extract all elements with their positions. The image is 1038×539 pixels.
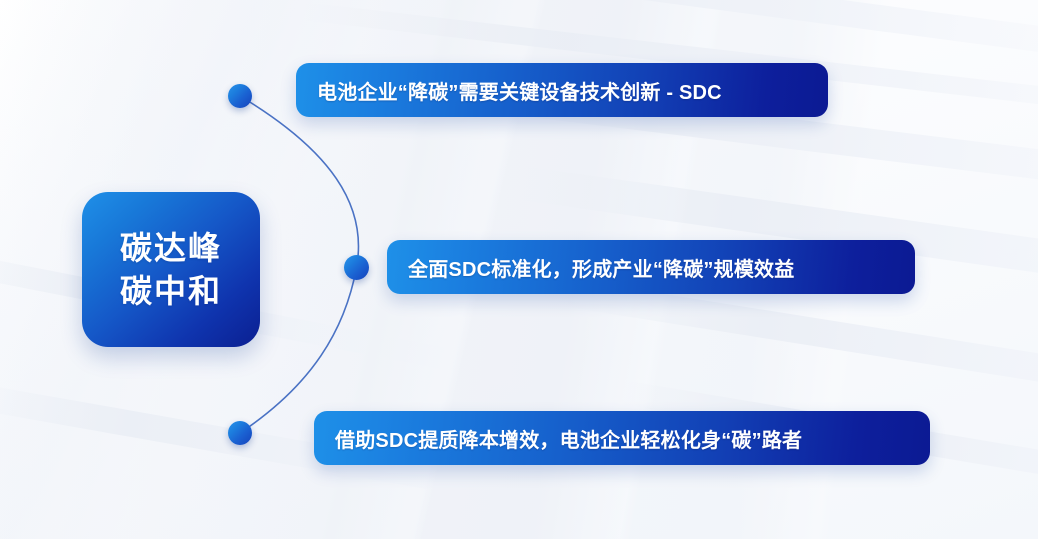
point-item-3-label: 借助SDC提质降本增效，电池企业轻松化身“碳”路者 [335, 424, 802, 453]
connector-dot-3 [228, 421, 252, 445]
point-item-3[interactable]: 借助SDC提质降本增效，电池企业轻松化身“碳”路者 [314, 411, 930, 465]
point-item-1-label: 电池企业“降碳”需要关键设备技术创新 - SDC [317, 76, 722, 105]
point-item-1[interactable]: 电池企业“降碳”需要关键设备技术创新 - SDC [296, 63, 828, 117]
main-topic-line-1: 碳达峰 [120, 227, 222, 269]
connector-dot-2 [344, 255, 369, 280]
main-topic-line-2: 碳中和 [120, 270, 222, 312]
background-streak [562, 279, 1038, 410]
point-item-2[interactable]: 全面SDC标准化，形成产业“降碳”规模效益 [387, 240, 915, 294]
main-topic-card: 碳达峰 碳中和 [82, 192, 260, 347]
background-streak [242, 0, 1038, 65]
infographic-slide: 碳达峰 碳中和 电池企业“降碳”需要关键设备技术创新 - SDC 全面SDC标准… [0, 0, 1038, 539]
point-item-2-label: 全面SDC标准化，形成产业“降碳”规模效益 [408, 253, 794, 282]
connector-dot-1 [228, 84, 252, 108]
